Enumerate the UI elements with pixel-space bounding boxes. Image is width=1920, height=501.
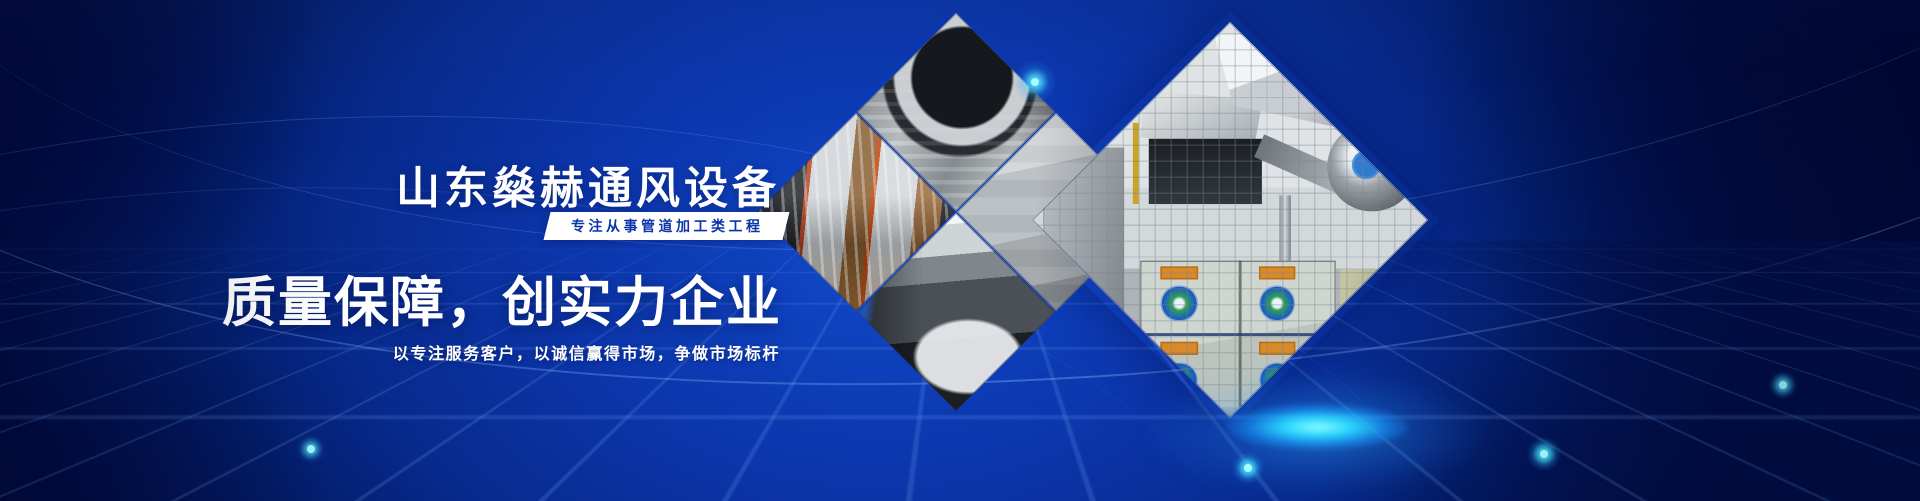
cabinet-divider-horizontal <box>1141 334 1336 337</box>
cabinet-base <box>1149 407 1328 418</box>
specialty-badge-label: 专注从事管道加工类工程 <box>571 216 764 236</box>
fan-gauge <box>1352 151 1380 179</box>
vertical-pipe <box>1279 196 1291 269</box>
tagline: 以专注服务客户，以诚信赢得市场，争做市场标杆 <box>393 340 780 364</box>
cabinet-label <box>1258 342 1295 355</box>
hero-banner: 山东燊赫通风设备 专注从事管道加工类工程 质量保障，创实力企业 以专注服务客户，… <box>0 0 1920 501</box>
cabinet-badge <box>1161 285 1198 322</box>
cabinet-label <box>1161 267 1198 280</box>
cabinet-badge <box>1161 362 1198 399</box>
exhaust-hood-large <box>1214 33 1376 130</box>
wall-opening <box>1149 139 1263 204</box>
cabinet-badge <box>1258 285 1295 322</box>
cabinet-badge <box>1258 362 1295 399</box>
specialty-badge: 专注从事管道加工类工程 <box>543 212 788 240</box>
headline: 质量保障，创实力企业 <box>222 258 782 337</box>
cabinet-divider-vertical <box>1238 261 1241 415</box>
centrifugal-fan <box>1327 123 1416 212</box>
kitchen-exhaust-image <box>1032 22 1428 418</box>
cabinet-label <box>1258 267 1295 280</box>
diagonal-duct <box>1254 135 1360 200</box>
banner-copy-block: 山东燊赫通风设备 专注从事管道加工类工程 质量保障，创实力企业 以专注服务客户，… <box>0 0 960 501</box>
side-tank <box>1340 269 1397 391</box>
kitchen-exhaust-photo <box>1032 22 1428 418</box>
purifier-cabinet <box>1141 261 1336 415</box>
cabinet-label <box>1161 342 1198 355</box>
company-title: 山东燊赫通风设备 <box>396 152 780 216</box>
yellow-gas-pipe <box>1133 123 1139 204</box>
exhaust-hood-small <box>1141 90 1263 155</box>
